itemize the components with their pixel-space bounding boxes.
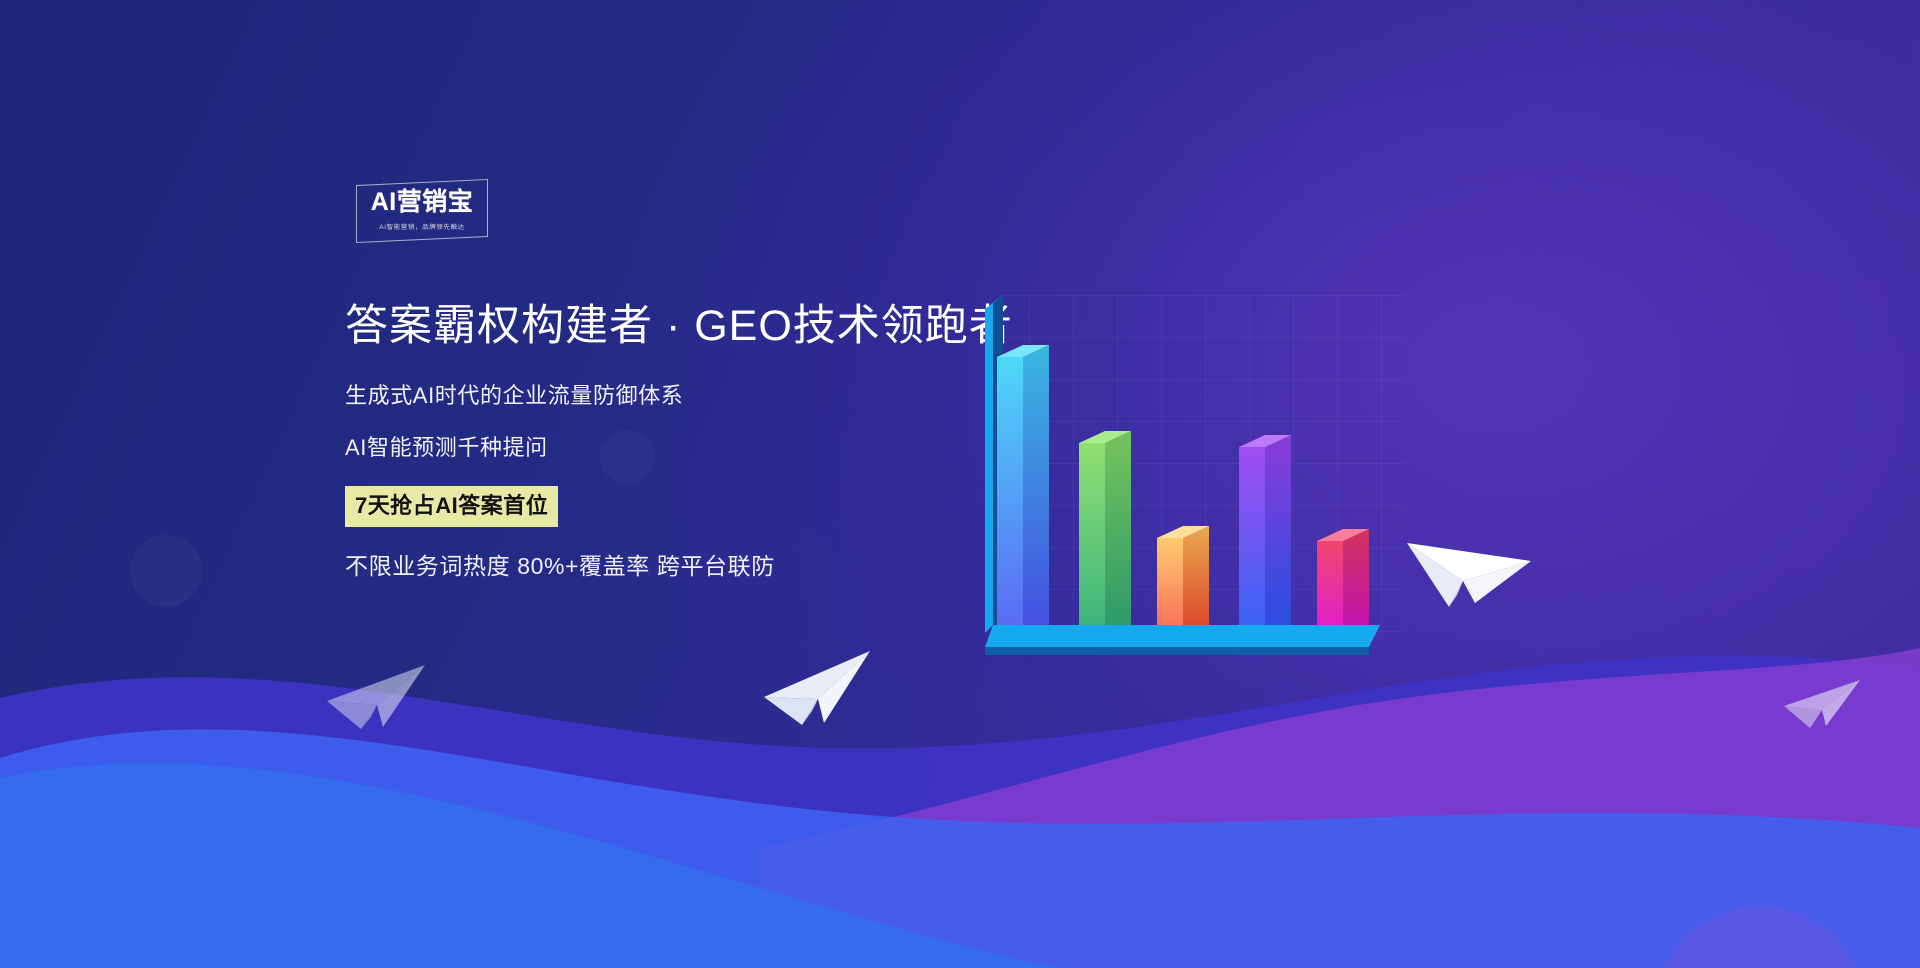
wave-layer-indigo xyxy=(0,548,1920,968)
logo-text: AI营销宝 xyxy=(356,190,488,215)
decor-circle-magenta xyxy=(1655,905,1865,968)
hero-highlight-row: 7天抢占AI答案首位 xyxy=(345,486,1065,527)
chart-bar xyxy=(1079,431,1131,625)
decor-circle xyxy=(130,535,202,607)
paper-plane-icon xyxy=(1405,515,1535,615)
chart-bar xyxy=(1157,526,1209,625)
brand-logo[interactable]: AI营销宝 AI智能营销，品牌领先触达 xyxy=(356,182,488,240)
chart-bar xyxy=(997,345,1049,625)
chart-bar xyxy=(1239,435,1291,625)
paper-plane-icon xyxy=(1782,672,1866,736)
logo-tagline: AI智能营销，品牌领先触达 xyxy=(356,221,488,230)
chart-floor xyxy=(985,625,1380,655)
paper-plane-icon xyxy=(325,655,435,740)
wave-layer-lightblue xyxy=(0,718,1920,968)
hero-subtitle-2: AI智能预测千种提问 xyxy=(345,437,1065,459)
bar-chart-illustration xyxy=(985,295,1405,655)
chart-bar xyxy=(1317,529,1369,625)
wave-layer-blue xyxy=(0,638,1920,968)
wave-layer-violet xyxy=(0,608,1920,968)
page-title: 答案霸权构建者 · GEO技术领跑者 xyxy=(345,300,1065,352)
hero-copy: 答案霸权构建者 · GEO技术领跑者 生成式AI时代的企业流量防御体系 AI智能… xyxy=(345,300,1065,578)
hero-banner: AI营销宝 AI智能营销，品牌领先触达 答案霸权构建者 · GEO技术领跑者 生… xyxy=(0,0,1920,968)
hero-subtitle-4: 不限业务词热度 80%+覆盖率 跨平台联防 xyxy=(345,555,1065,578)
paper-plane-icon xyxy=(762,645,880,735)
hero-subtitle-1: 生成式AI时代的企业流量防御体系 xyxy=(345,385,1065,407)
hero-highlight-badge: 7天抢占AI答案首位 xyxy=(345,486,558,527)
